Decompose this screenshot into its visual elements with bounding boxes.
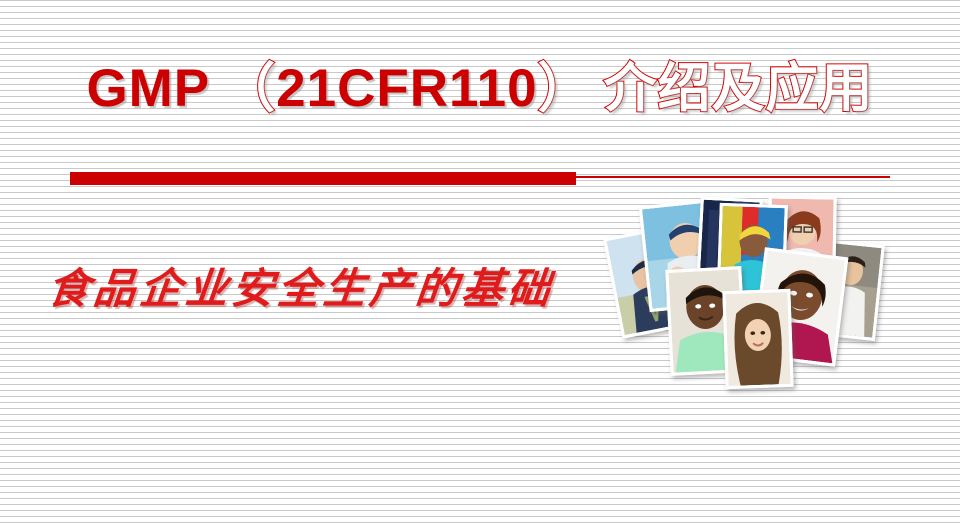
page-title: GMP（21CFR110）介绍及应用 — [0, 62, 960, 115]
title-segment-code: 21CFR110 — [276, 62, 537, 115]
subtitle: 食品企业安全生产的基础 — [45, 255, 557, 316]
title-segment-cjk: 介绍及应用 — [604, 62, 874, 115]
collage-photo-girl-long-hair — [722, 289, 793, 389]
title-slide: GMP（21CFR110）介绍及应用 食品企业安全生产的基础 — [0, 0, 960, 524]
title-paren-open: （ — [222, 62, 276, 115]
title-paren-close: ） — [538, 62, 592, 115]
title-segment-latin: GMP — [86, 62, 210, 115]
photo-collage — [606, 190, 864, 395]
divider-thick-bar — [70, 172, 576, 185]
photo-girl-long-hair-image — [725, 292, 790, 386]
